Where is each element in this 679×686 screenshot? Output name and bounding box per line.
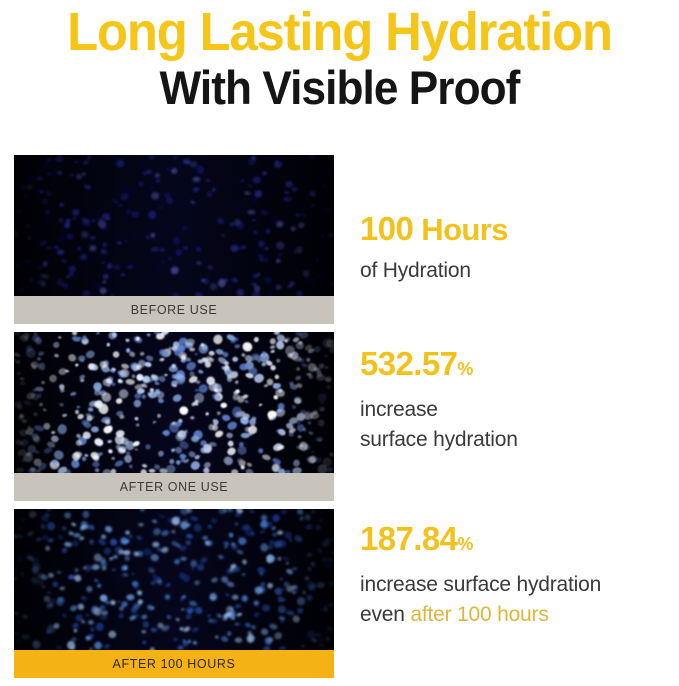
stat-description: increasesurface hydration <box>360 395 679 455</box>
skin-hydration-micrograph-after-one-use <box>14 332 334 473</box>
headline: Long Lasting Hydration With Visible Proo… <box>0 0 679 114</box>
plain-text: of Hydration <box>360 259 471 282</box>
stat-number: 100 <box>360 210 413 247</box>
plain-text: surface hydration <box>360 428 518 451</box>
panel-caption: AFTER 100 HOURS <box>14 650 334 678</box>
panel-caption: AFTER ONE USE <box>14 473 334 501</box>
stat-description: increase surface hydrationeven after 100… <box>360 570 679 630</box>
micrograph-panel-column: BEFORE USEAFTER ONE USEAFTER 100 HOURS <box>14 155 334 686</box>
stat-description: of Hydration <box>360 256 679 286</box>
comparison-content: BEFORE USEAFTER ONE USEAFTER 100 HOURS 1… <box>0 155 679 686</box>
stat-number: 187.84 <box>360 520 457 557</box>
stat-number: 532.57 <box>360 345 457 382</box>
stat-unit: % <box>457 359 473 379</box>
stat-block: 100 Hoursof Hydration <box>360 210 679 286</box>
highlighted-text: after 100 hours <box>410 603 548 626</box>
comparison-panel: AFTER ONE USE <box>14 332 334 501</box>
stat-description-line: even after 100 hours <box>360 600 679 630</box>
stat-description-line: increase surface hydration <box>360 570 679 600</box>
stat-block: 187.84%increase surface hydrationeven af… <box>360 520 679 630</box>
ad-creative: Long Lasting Hydration With Visible Proo… <box>0 0 679 686</box>
plain-text: even <box>360 603 410 626</box>
comparison-panel: BEFORE USE <box>14 155 334 324</box>
stat-description-line: surface hydration <box>360 425 679 455</box>
stat-block: 532.57%increasesurface hydration <box>360 345 679 455</box>
headline-line-1: Long Lasting Hydration <box>20 4 658 60</box>
stat-value: 187.84% <box>360 520 679 563</box>
stat-description-line: of Hydration <box>360 256 679 286</box>
stat-description-line: increase <box>360 395 679 425</box>
comparison-panel: AFTER 100 HOURS <box>14 509 334 678</box>
stat-unit: % <box>457 534 473 554</box>
stat-value: 532.57% <box>360 345 679 388</box>
plain-text: increase surface hydration <box>360 573 601 596</box>
panel-caption: BEFORE USE <box>14 296 334 324</box>
skin-hydration-micrograph-before <box>14 155 334 296</box>
stat-value: 100 Hours <box>360 210 679 249</box>
stat-unit: Hours <box>413 212 508 247</box>
skin-hydration-micrograph-after-100-hours <box>14 509 334 650</box>
plain-text: increase <box>360 398 438 421</box>
headline-line-2: With Visible Proof <box>20 62 658 114</box>
